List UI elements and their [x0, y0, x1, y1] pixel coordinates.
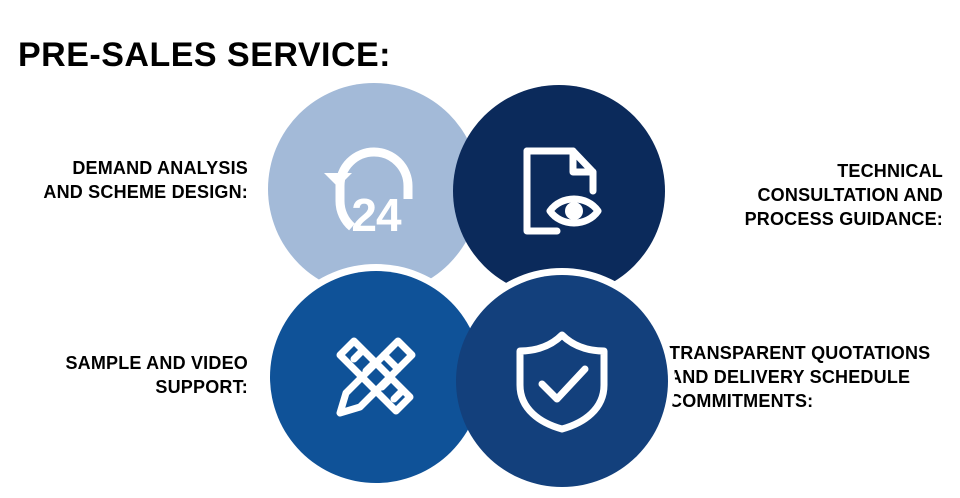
circle-transparent-quotations[interactable]: [456, 275, 668, 487]
pencil-ruler-icon: [270, 271, 482, 483]
label-sample-video-support: SAMPLE AND VIDEO SUPPORT:: [0, 352, 248, 400]
24-hours-icon-text: 24: [351, 189, 402, 239]
circle-technical-consultation[interactable]: [453, 85, 665, 297]
label-transparent-quotations: TRANSPARENT QUOTATIONS AND DELIVERY SCHE…: [669, 342, 960, 414]
shield-check-icon: [456, 275, 668, 487]
circle-sample-video-support[interactable]: [270, 271, 482, 483]
service-circle-cluster: 24: [268, 83, 668, 489]
page-title: PRE-SALES SERVICE:: [18, 37, 391, 74]
label-demand-analysis: DEMAND ANALYSIS AND SCHEME DESIGN:: [0, 157, 248, 205]
document-eye-icon: [453, 85, 665, 297]
label-technical-consultation: TECHNICAL CONSULTATION AND PROCESS GUIDA…: [727, 160, 943, 232]
